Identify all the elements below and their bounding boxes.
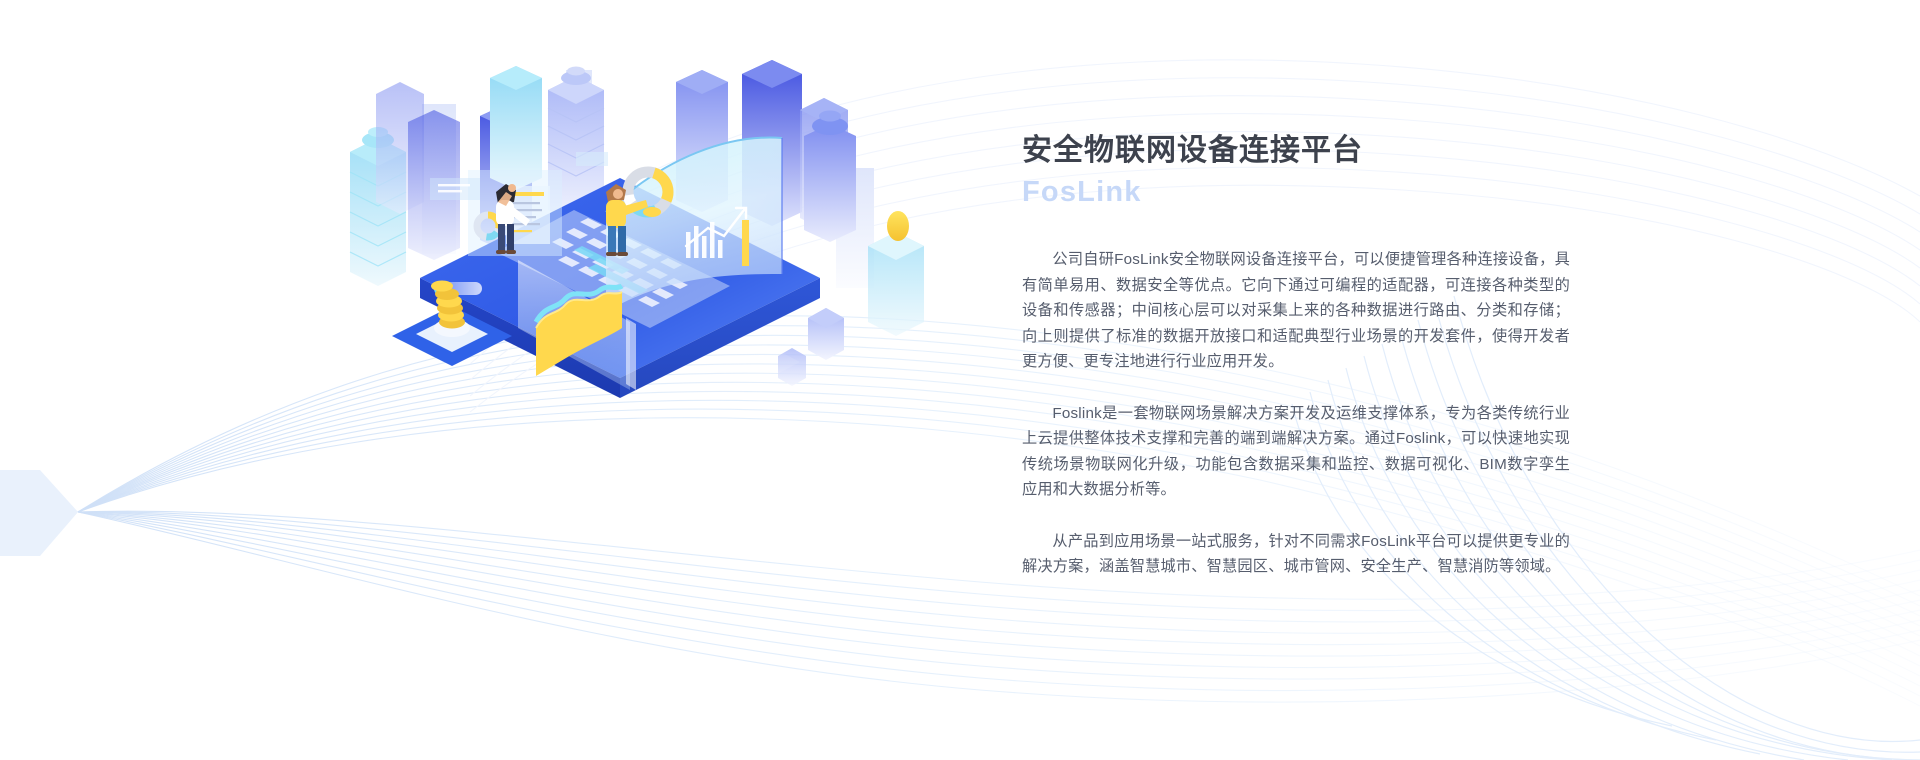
paragraph-3: 从产品到应用场景一站式服务，针对不同需求FosLink平台可以提供更专业的解决方… xyxy=(1022,529,1570,580)
coin-pedestal-right xyxy=(868,211,924,336)
text-content-column: 安全物联网设备连接平台 FosLink 公司自研FosLink安全物联网设备连接… xyxy=(1022,132,1570,580)
page-title: 安全物联网设备连接平台 xyxy=(1022,132,1570,170)
wave-origin-marker xyxy=(0,470,78,556)
isometric-platform-illustration xyxy=(330,60,970,400)
paragraph-1: 公司自研FosLink安全物联网设备连接平台，可以便捷管理各种连接设备，具有简单… xyxy=(1022,247,1570,375)
wave-fan-lower xyxy=(78,511,1920,702)
paragraph-2: Foslink是一套物联网场景解决方案开发及运维支撑体系，专为各类传统行业上云提… xyxy=(1022,401,1570,503)
description-paragraphs: 公司自研FosLink安全物联网设备连接平台，可以便捷管理各种连接设备，具有简单… xyxy=(1022,247,1570,580)
page-root: 安全物联网设备连接平台 FosLink 公司自研FosLink安全物联网设备连接… xyxy=(0,0,1920,760)
page-subtitle: FosLink xyxy=(1022,174,1570,212)
